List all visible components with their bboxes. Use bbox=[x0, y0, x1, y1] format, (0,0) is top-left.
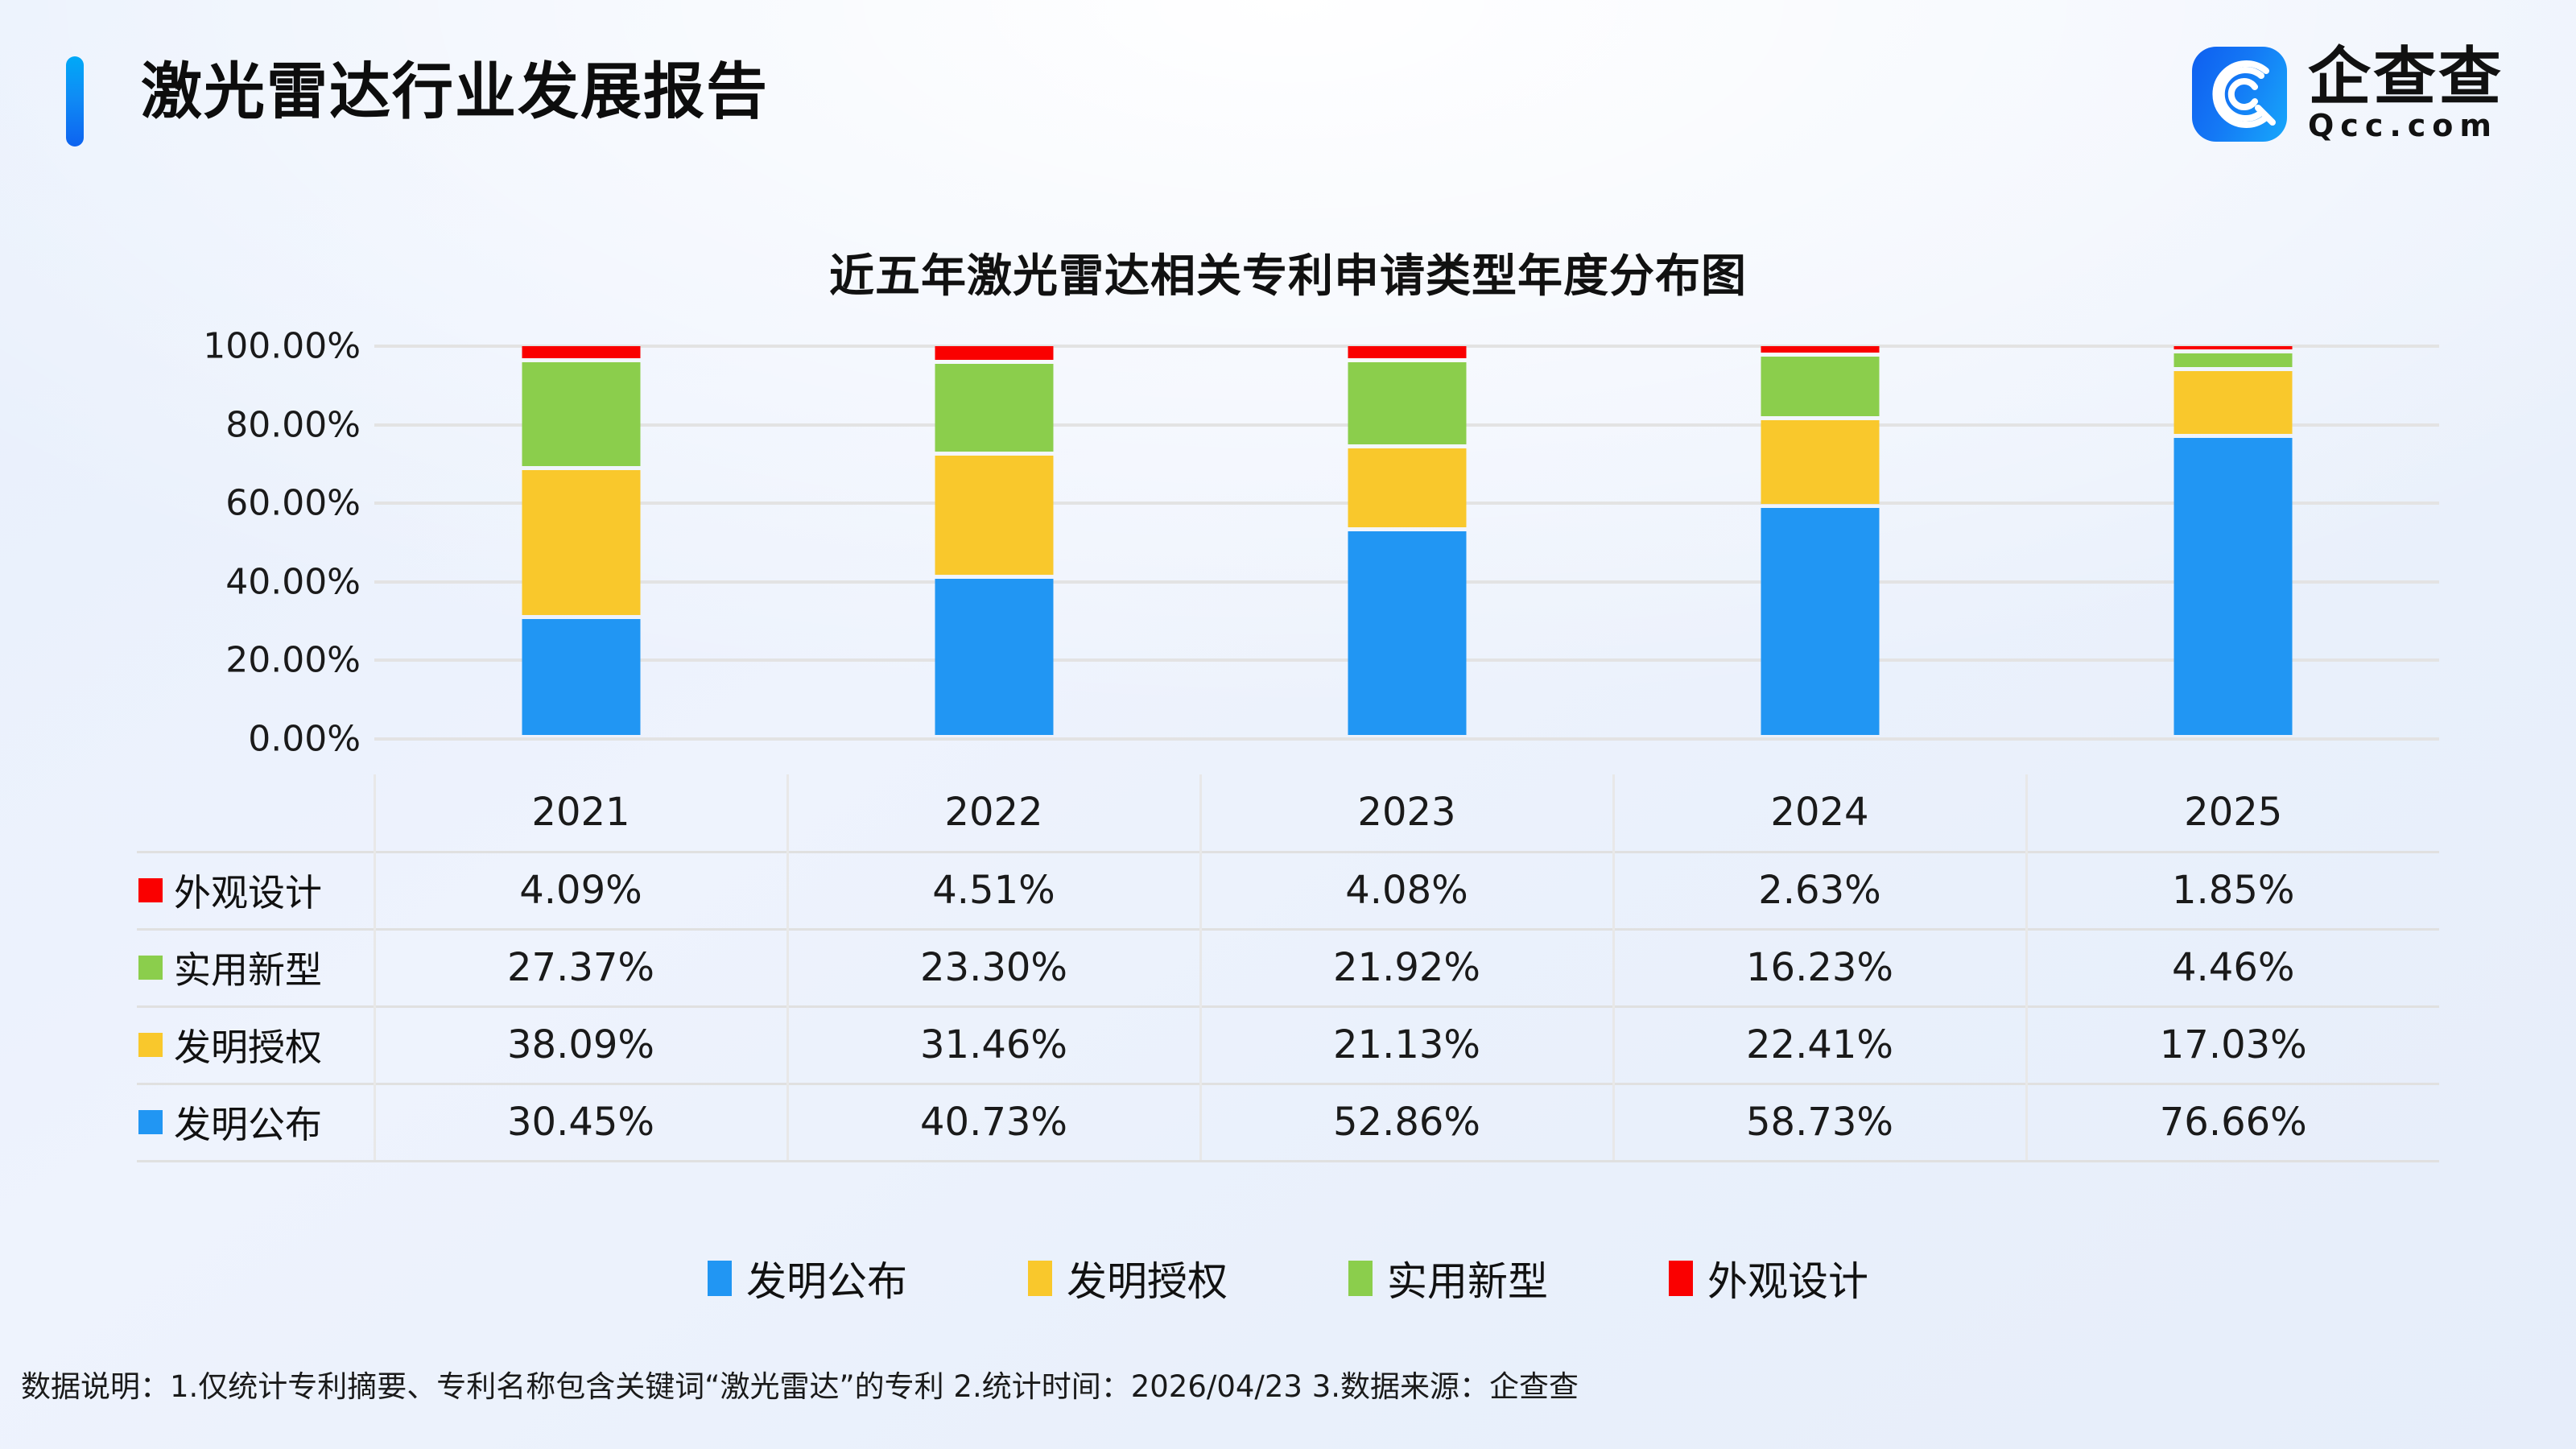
legend-color-swatch-icon bbox=[1669, 1261, 1693, 1296]
brand-logo[interactable]: 企查查 Qcc.com bbox=[2192, 47, 2504, 142]
table-value-cell: 16.23% bbox=[1613, 929, 2026, 1006]
series-name: 发明授权 bbox=[174, 1018, 322, 1071]
table-value-cell: 1.85% bbox=[2026, 852, 2439, 929]
table-header-row: 20212022202320242025 bbox=[137, 774, 2439, 852]
legend-color-swatch-icon bbox=[708, 1261, 732, 1296]
bar-segment[interactable] bbox=[522, 346, 640, 358]
table-value-cell: 17.03% bbox=[2026, 1006, 2439, 1084]
bar-slot-2022 bbox=[787, 346, 1200, 739]
data-table: 20212022202320242025 外观设计4.09%4.51%4.08%… bbox=[137, 774, 2439, 1162]
table-value-cell: 38.09% bbox=[374, 1006, 787, 1084]
bar-segment[interactable] bbox=[522, 619, 640, 735]
bar-slot-2025 bbox=[2026, 346, 2439, 739]
series-color-swatch-icon bbox=[138, 956, 163, 980]
stacked-bar[interactable] bbox=[522, 346, 640, 739]
stacked-bar[interactable] bbox=[2173, 346, 2292, 739]
logo-domain: Qcc.com bbox=[2308, 110, 2504, 141]
legend-label: 实用新型 bbox=[1387, 1249, 1548, 1307]
bar-segment[interactable] bbox=[1348, 362, 1466, 444]
table-value-cell: 22.41% bbox=[1613, 1006, 2026, 1084]
y-axis-tick-label: 20.00% bbox=[225, 640, 361, 681]
chart-title: 近五年激光雷达相关专利申请类型年度分布图 bbox=[0, 240, 2576, 305]
y-axis-tick-label: 60.00% bbox=[225, 483, 361, 524]
table-value-cell: 76.66% bbox=[2026, 1084, 2439, 1161]
y-axis: 100.00%80.00%60.00%40.00%20.00%0.00% bbox=[137, 346, 370, 781]
table-value-cell: 27.37% bbox=[374, 929, 787, 1006]
bar-segment[interactable] bbox=[1761, 508, 1879, 735]
bar-segment[interactable] bbox=[522, 470, 640, 616]
legend-item[interactable]: 发明公布 bbox=[708, 1249, 907, 1307]
series-color-swatch-icon bbox=[138, 1110, 163, 1134]
stacked-bar[interactable] bbox=[935, 346, 1053, 739]
y-axis-tick-label: 80.00% bbox=[225, 404, 361, 445]
bar-segment[interactable] bbox=[1348, 346, 1466, 358]
page-title: 激光雷达行业发展报告 bbox=[141, 42, 769, 130]
chart-plot: 100.00%80.00%60.00%40.00%20.00%0.00% bbox=[0, 346, 2576, 781]
title-accent-bar bbox=[66, 56, 84, 147]
table-value-cell: 4.46% bbox=[2026, 929, 2439, 1006]
legend-item[interactable]: 外观设计 bbox=[1669, 1249, 1868, 1307]
legend-label: 外观设计 bbox=[1707, 1249, 1868, 1307]
series-name: 发明公布 bbox=[174, 1096, 322, 1149]
table-row-label-cell: 实用新型 bbox=[137, 929, 374, 1006]
table-value-cell: 40.73% bbox=[787, 1084, 1200, 1161]
page-header: 激光雷达行业发展报告 企查查 Qcc.com bbox=[0, 0, 2576, 185]
bar-segment[interactable] bbox=[2173, 346, 2292, 349]
table-row-label-cell: 发明公布 bbox=[137, 1084, 374, 1161]
stacked-bar[interactable] bbox=[1348, 346, 1466, 739]
table-value-cell: 4.51% bbox=[787, 852, 1200, 929]
logo-chinese-name: 企查查 bbox=[2308, 47, 2504, 108]
bar-segment[interactable] bbox=[935, 579, 1053, 735]
table-body: 外观设计4.09%4.51%4.08%2.63%1.85%实用新型27.37%2… bbox=[137, 852, 2439, 1161]
table-row-label-cell: 外观设计 bbox=[137, 852, 374, 929]
bar-segment[interactable] bbox=[2173, 438, 2292, 735]
bar-slot-2021 bbox=[374, 346, 787, 739]
table-row: 实用新型27.37%23.30%21.92%16.23%4.46% bbox=[137, 929, 2439, 1006]
bar-series-container bbox=[374, 346, 2439, 739]
table-row: 发明授权38.09%31.46%21.13%22.41%17.03% bbox=[137, 1006, 2439, 1084]
table-year-header: 2025 bbox=[2026, 774, 2439, 852]
series-color-swatch-icon bbox=[138, 1033, 163, 1057]
bar-slot-2023 bbox=[1200, 346, 1613, 739]
bar-segment[interactable] bbox=[935, 456, 1053, 576]
plot-area bbox=[374, 346, 2439, 739]
bar-segment[interactable] bbox=[1761, 357, 1879, 416]
bar-segment[interactable] bbox=[2173, 353, 2292, 367]
table-value-cell: 52.86% bbox=[1200, 1084, 1613, 1161]
table-corner-cell bbox=[137, 774, 374, 852]
legend-item[interactable]: 实用新型 bbox=[1348, 1249, 1548, 1307]
bar-segment[interactable] bbox=[1761, 346, 1879, 353]
legend-label: 发明授权 bbox=[1067, 1249, 1228, 1307]
stacked-bar[interactable] bbox=[1761, 346, 1879, 739]
legend-item[interactable]: 发明授权 bbox=[1028, 1249, 1228, 1307]
table-value-cell: 4.08% bbox=[1200, 852, 1613, 929]
table-year-header: 2024 bbox=[1613, 774, 2026, 852]
table-year-header: 2023 bbox=[1200, 774, 1613, 852]
table-value-cell: 21.13% bbox=[1200, 1006, 1613, 1084]
table-value-cell: 4.09% bbox=[374, 852, 787, 929]
table-value-cell: 31.46% bbox=[787, 1006, 1200, 1084]
qcc-logo-icon bbox=[2192, 47, 2287, 142]
legend-label: 发明公布 bbox=[746, 1249, 907, 1307]
table-value-cell: 2.63% bbox=[1613, 852, 2026, 929]
table-value-cell: 21.92% bbox=[1200, 929, 1613, 1006]
bar-segment[interactable] bbox=[1761, 420, 1879, 504]
table-row-label-cell: 发明授权 bbox=[137, 1006, 374, 1084]
table-row: 发明公布30.45%40.73%52.86%58.73%76.66% bbox=[137, 1084, 2439, 1161]
y-axis-tick-label: 40.00% bbox=[225, 561, 361, 602]
legend-color-swatch-icon bbox=[1348, 1261, 1373, 1296]
legend-color-swatch-icon bbox=[1028, 1261, 1052, 1296]
chart-legend: 发明公布发明授权实用新型外观设计 bbox=[0, 1249, 2576, 1307]
y-axis-tick-label: 0.00% bbox=[248, 719, 361, 760]
bar-segment[interactable] bbox=[1348, 531, 1466, 735]
y-axis-tick-label: 100.00% bbox=[203, 326, 361, 367]
table-value-cell: 23.30% bbox=[787, 929, 1200, 1006]
footnote: 数据说明：1.仅统计专利摘要、专利名称包含关键词“激光雷达”的专利 2.统计时间… bbox=[21, 1362, 2557, 1406]
table-value-cell: 58.73% bbox=[1613, 1084, 2026, 1161]
table-header: 20212022202320242025 bbox=[137, 774, 2439, 852]
logo-wordmark: 企查查 Qcc.com bbox=[2308, 47, 2504, 142]
series-name: 实用新型 bbox=[174, 941, 322, 994]
series-name: 外观设计 bbox=[174, 864, 322, 917]
series-color-swatch-icon bbox=[138, 878, 163, 902]
table-year-header: 2021 bbox=[374, 774, 787, 852]
bar-segment[interactable] bbox=[522, 362, 640, 466]
bar-slot-2024 bbox=[1613, 346, 2026, 739]
bar-segment[interactable] bbox=[935, 346, 1053, 360]
bar-segment[interactable] bbox=[2173, 371, 2292, 434]
bar-segment[interactable] bbox=[935, 364, 1053, 452]
bar-segment[interactable] bbox=[1348, 448, 1466, 527]
table-value-cell: 30.45% bbox=[374, 1084, 787, 1161]
table-row: 外观设计4.09%4.51%4.08%2.63%1.85% bbox=[137, 852, 2439, 929]
table-year-header: 2022 bbox=[787, 774, 1200, 852]
